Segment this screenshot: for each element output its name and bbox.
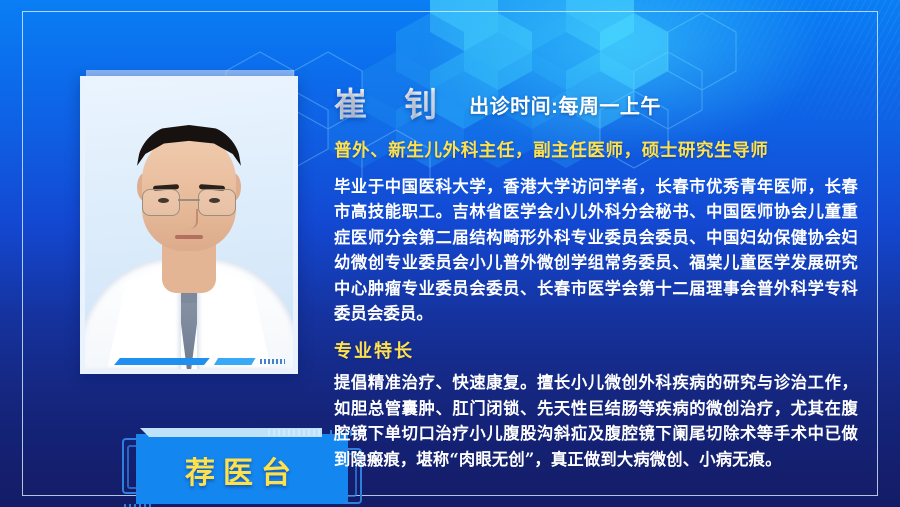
photo-bottom-tech-strip: [85, 349, 293, 369]
doctor-biography: 毕业于中国医科大学，香港大学访问学者，长春市优秀青年医师，长春市高技能职工。吉林…: [334, 174, 858, 326]
strip-bar-1: [114, 358, 210, 365]
mouth: [175, 235, 203, 239]
glasses-lens-right: [198, 189, 236, 216]
specialty-description: 提倡精准治疗、快速康复。擅长小儿微创外科疾病的研究与诊治工作，如胆总管囊肿、肛门…: [334, 370, 858, 472]
nose: [183, 209, 198, 229]
doctor-name: 崔 钊: [334, 78, 451, 126]
specialty-heading: 专业特长: [334, 337, 858, 363]
clinic-time: 出诊时间:每周一上午: [469, 90, 661, 119]
photo-frame: [80, 76, 298, 374]
doctor-portrait-photo: [85, 81, 293, 369]
nameplate-label: 荐医台: [122, 428, 362, 507]
doctor-profile-card: 荐医台 崔 钊 出诊时间:每周一上午 普外、新生儿外科主任，副主任医师，硕士研究…: [0, 0, 900, 507]
glasses-lens-left: [142, 189, 180, 216]
strip-bar-2: [214, 358, 256, 365]
nameplate: 荐医台: [122, 428, 362, 507]
header-row: 崔 钊 出诊时间:每周一上午: [334, 78, 858, 126]
glasses-bridge: [178, 199, 200, 201]
strip-dots: [260, 359, 285, 364]
doctor-title: 普外、新生儿外科主任，副主任医师，硕士研究生导师: [334, 137, 858, 162]
portrait-zone: 荐医台: [58, 70, 306, 440]
doctor-info-panel: 崔 钊 出诊时间:每周一上午 普外、新生儿外科主任，副主任医师，硕士研究生导师 …: [334, 78, 858, 472]
